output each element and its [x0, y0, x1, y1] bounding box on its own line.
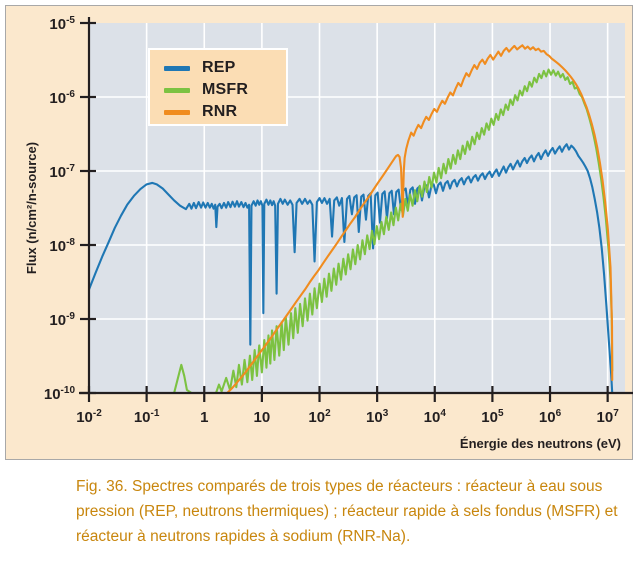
- legend-swatch-rep: [164, 66, 190, 71]
- x-tick-label: 103: [366, 408, 389, 426]
- y-tick-label: 10-7: [49, 163, 75, 181]
- legend-item-rep: REP: [164, 57, 286, 79]
- x-tick-label: 106: [539, 408, 562, 426]
- x-tick-label: 104: [424, 408, 447, 426]
- legend-item-rnr: RNR: [164, 101, 286, 123]
- y-tick-label: 10-5: [49, 15, 75, 33]
- x-tick-label: 10: [254, 409, 271, 426]
- x-tick-label: 10-2: [76, 408, 102, 426]
- legend-swatch-rnr: [164, 110, 190, 115]
- y-tick-label: 10-8: [49, 237, 75, 255]
- x-axis-title: Énergie des neutrons (eV): [460, 436, 621, 451]
- x-tick-label: 107: [597, 408, 620, 426]
- x-tick-label: 102: [308, 408, 331, 426]
- chart-legend: REP MSFR RNR: [148, 48, 288, 126]
- x-tick-label: 10-1: [134, 408, 160, 426]
- legend-label-rep: REP: [202, 59, 236, 77]
- x-tick-label: 105: [481, 408, 504, 426]
- legend-label-rnr: RNR: [202, 103, 237, 121]
- x-tick-label: 1: [200, 409, 208, 426]
- figure-caption: Fig. 36. Spectres comparés de trois type…: [76, 474, 628, 549]
- y-axis-title: Flux (n/cm²/n-source): [24, 142, 39, 274]
- y-tick-label: 10-10: [44, 385, 76, 403]
- legend-item-msfr: MSFR: [164, 79, 286, 101]
- spectrum-chart: 10-510-610-710-810-910-1010-210-11101021…: [6, 6, 634, 461]
- legend-swatch-msfr: [164, 88, 190, 93]
- y-tick-label: 10-9: [49, 311, 75, 329]
- y-tick-label: 10-6: [49, 89, 75, 107]
- legend-label-msfr: MSFR: [202, 81, 248, 99]
- figure-panel: 10-510-610-710-810-910-1010-210-11101021…: [5, 5, 633, 460]
